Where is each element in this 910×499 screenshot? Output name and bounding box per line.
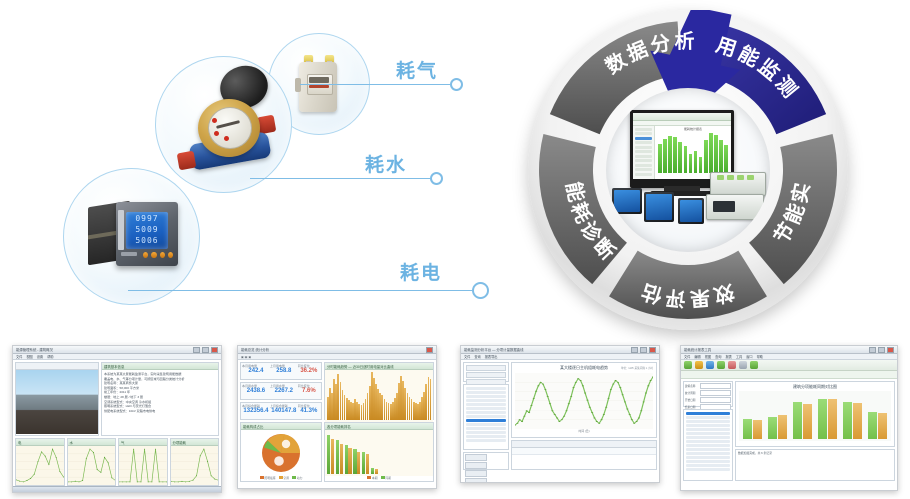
s3-xlabel: 时间 (日): [512, 429, 656, 433]
s3-menu-file[interactable]: 文件: [464, 354, 470, 359]
s3-filter-panel[interactable]: [463, 362, 509, 382]
s4-tree[interactable]: [683, 409, 733, 481]
s3-action-buttons[interactable]: [463, 452, 509, 470]
s2-kpi-stack: 本月用电量242.4 上月用电量258.8 同比变化36.2% 本月用水量243…: [240, 362, 322, 420]
connector-label-water: 耗水: [365, 150, 407, 177]
s4-menu-window[interactable]: 窗口: [746, 354, 752, 359]
s4-menu-report[interactable]: 报表: [726, 354, 732, 359]
s4-menu-tools[interactable]: 工具: [736, 354, 742, 359]
s1-spark-water: 水: [67, 438, 117, 486]
hub-lcd-meter-3: [678, 198, 704, 224]
screenshot-strip: 能源管理系统 - 建筑概况 文件 视图 设置 帮助 建筑基本信息 本系统为某某大…: [0, 345, 910, 499]
electric-meter-lcd: 0997 5009 5006: [126, 212, 168, 249]
screenshot-dashboard[interactable]: 能耗总览 统计分析 ▣ ▣ ▣ 本月用电量242.4 上月用电量258.8 同比…: [237, 345, 437, 489]
s4-form-panel[interactable]: 建筑名称 统计周期 开始日期 结束日期: [683, 381, 733, 407]
s4-toolbar[interactable]: [681, 360, 897, 371]
hub-lcd-meter-2: [644, 192, 674, 222]
s2-column-chart: [325, 430, 433, 476]
s2-pie-panel: 能耗构成占比 照明插座 空调: [240, 422, 322, 482]
connector-node-water: [430, 172, 443, 185]
s4-title: 能耗统计报表工具: [684, 347, 711, 352]
electric-meter-icon: 0997 5009 5006: [88, 196, 184, 278]
s1-spark-elec: 电: [15, 438, 65, 486]
s4-chart-title: 建筑分项能耗同期对比图: [736, 382, 894, 390]
s4-status-panel: 数据加载完成，共 6 条记录: [735, 449, 895, 481]
s3-chart-note: 单位：kWh 采集间隔 1 小时: [621, 366, 653, 370]
s2-kpi-row-2: 本月用水量2438.6 上月用水量2267.2 同比变化7.6%: [240, 382, 322, 400]
connector-line-electricity: [128, 290, 478, 291]
s4-menu-help[interactable]: 帮助: [757, 354, 763, 359]
s4-menu-edit[interactable]: 编辑: [694, 354, 700, 359]
s3-title: 能耗监测分析平台 — 分项计量数据曲线: [464, 347, 524, 352]
screenshot-trend[interactable]: 能耗监测分析平台 — 分项计量数据曲线 文件 查询 报表导出: [460, 345, 660, 483]
s2-kpi-row-3: 本月综合能耗132356.4 上月综合能耗140147.8 同比变化41.3%: [240, 402, 322, 420]
s3-chart-panel: 某大楼逐日主机组耗电趋势 单位：kWh 采集间隔 1 小时 时间 (日): [511, 362, 657, 438]
s2-pie-chart: [259, 431, 303, 475]
s2-bar-chart: [325, 370, 433, 422]
s2-column-panel: 各分项能耗排名 本期 同期: [324, 422, 434, 482]
screenshot-overview[interactable]: 能源管理系统 - 建筑概况 文件 视图 设置 帮助 建筑基本信息 本系统为某某大…: [12, 345, 222, 493]
s2-pie-legend: 照明插座 空调 动力: [241, 476, 321, 480]
s3-table-panel[interactable]: [511, 440, 657, 470]
wheel-hub: 能耗统计报表: [606, 88, 770, 252]
s3-line-chart: [515, 373, 653, 429]
s1-photo-panel: [15, 362, 99, 436]
s1-info-title: 建筑基本信息: [102, 363, 218, 370]
s3-device-tree[interactable]: [463, 384, 509, 450]
gas-meter-icon: [295, 52, 341, 114]
s4-menu-file[interactable]: 文件: [684, 354, 690, 359]
connector-node-electricity: [472, 282, 489, 299]
s3-menu-export[interactable]: 报表导出: [485, 354, 498, 359]
s1-menu-help[interactable]: 帮助: [47, 354, 53, 359]
hub-bar-chart: [658, 133, 728, 173]
cycle-wheel: 用能监测 节能实施 效果评估 能耗诊断 数据分析: [528, 10, 848, 330]
s1-building-photo: [16, 370, 98, 434]
s2-title: 能耗总览 统计分析: [241, 347, 269, 352]
s1-info-lines: 本系统为某某大厦能耗监测平台，实时采集建筑用能数据 覆盖电、水、气等分项计量，可…: [102, 370, 218, 415]
connector-label-gas: 耗气: [396, 56, 438, 83]
connector-line-water: [250, 178, 430, 179]
s4-chart-panel: 建筑分项能耗同期对比图: [735, 381, 895, 447]
s1-title: 能源管理系统 - 建筑概况: [16, 347, 53, 352]
hub-lcd-meter-1: [612, 188, 642, 214]
water-meter-icon: [176, 66, 280, 176]
s1-sparkline-row: 电 水 气 分项能耗: [13, 438, 221, 486]
hub-chart-title: 能耗统计报表: [655, 127, 731, 131]
s4-menu-view[interactable]: 视图: [705, 354, 711, 359]
screenshot-compare[interactable]: 能耗统计报表工具 文件 编辑 视图 查询 报表 工具 窗口 帮助: [680, 345, 898, 491]
s1-spark-subitem: 分项能耗: [170, 438, 220, 486]
s1-info-panel: 建筑基本信息 本系统为某某大厦能耗监测平台，实时采集建筑用能数据 覆盖电、水、气…: [101, 362, 219, 436]
connector-line-gas: [300, 84, 450, 85]
hub-din-device-1: [710, 172, 766, 196]
s2-col-legend: 本期 同期: [325, 476, 433, 480]
s4-menu-query[interactable]: 查询: [715, 354, 721, 359]
s1-menu-view[interactable]: 视图: [26, 354, 32, 359]
s4-status-text: 数据加载完成，共 6 条记录: [736, 450, 894, 456]
s2-kpi-row-1: 本月用电量242.4 上月用电量258.8 同比变化36.2%: [240, 362, 322, 380]
infographic-stage: 0997 5009 5006 耗气 耗水 耗电: [0, 0, 910, 499]
s3-menu-query[interactable]: 查询: [474, 354, 480, 359]
s4-grouped-bar-chart: [739, 391, 891, 441]
s1-menu-settings[interactable]: 设置: [37, 354, 43, 359]
connector-node-gas: [450, 78, 463, 91]
hub-din-device-2: [706, 194, 764, 220]
s2-bar-panel: 分时能耗趋势 — 近30日逐时用电量对比曲线: [324, 362, 434, 420]
s1-spark-gas: 气: [118, 438, 168, 486]
s1-menu-file[interactable]: 文件: [16, 354, 22, 359]
connector-label-electricity: 耗电: [400, 258, 442, 285]
